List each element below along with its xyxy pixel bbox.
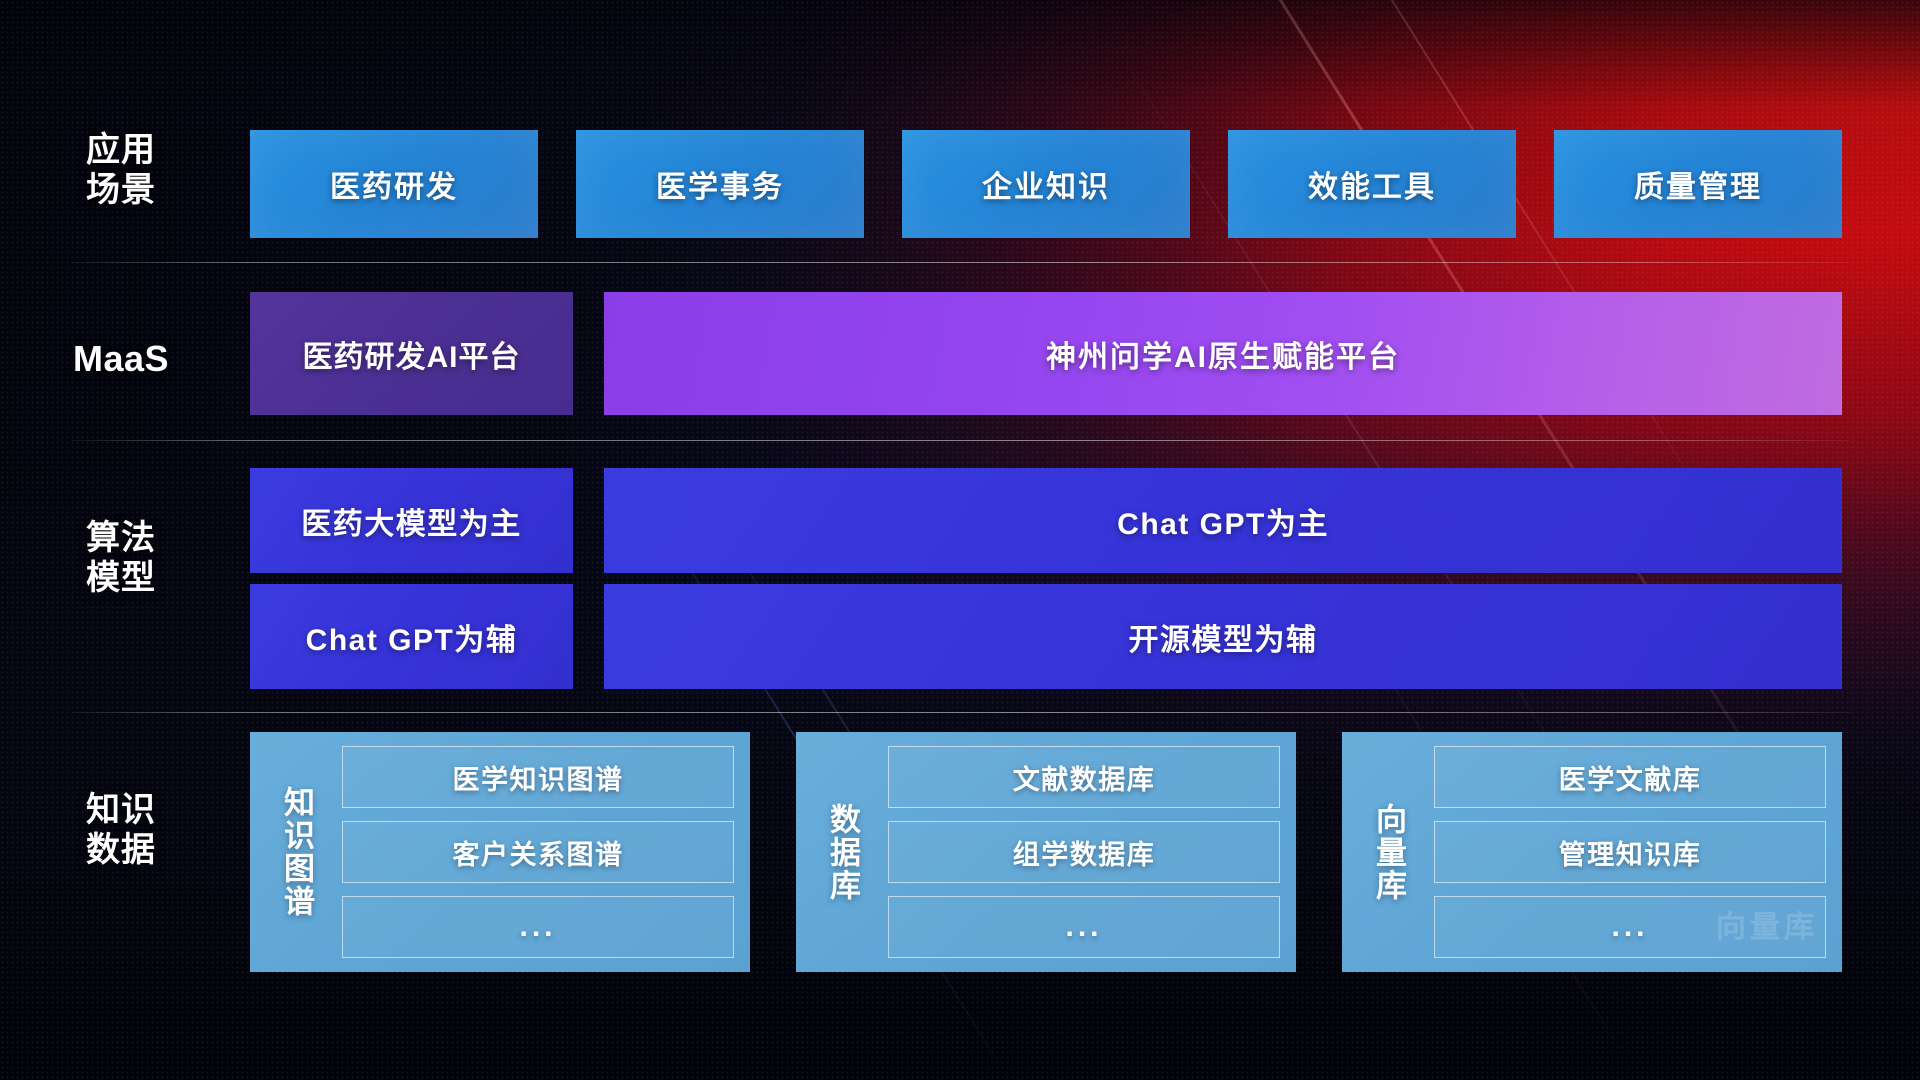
knowledge-item-omics-database[interactable]: 组学数据库 bbox=[888, 821, 1280, 883]
knowledge-item-more[interactable]: ... bbox=[342, 896, 734, 958]
tier-divider-2 bbox=[72, 440, 1850, 441]
tier-label-maas: MaaS bbox=[32, 338, 210, 380]
algo-box-chatgpt-secondary[interactable]: Chat GPT为辅 bbox=[250, 584, 573, 689]
knowledge-group-items: 医学知识图谱 客户关系图谱 ... bbox=[342, 746, 734, 958]
knowledge-group-vector-store[interactable]: 向量库 医学文献库 管理知识库 ... 向量库 bbox=[1342, 732, 1842, 972]
knowledge-group-items: 医学文献库 管理知识库 ... bbox=[1434, 746, 1826, 958]
knowledge-group-title: 数据库 bbox=[810, 746, 874, 958]
algo-box-chatgpt-primary[interactable]: Chat GPT为主 bbox=[604, 468, 1842, 573]
app-box-efficiency-tools[interactable]: 效能工具 bbox=[1228, 130, 1516, 238]
tier-label-line-1: 应用 bbox=[32, 130, 210, 170]
tier-label-line-2: 场景 bbox=[32, 170, 210, 210]
algo-box-drug-large-model-primary[interactable]: 医药大模型为主 bbox=[250, 468, 573, 573]
tier-label-application-scenarios: 应用 场景 bbox=[32, 130, 210, 210]
tier-label-line-2: 模型 bbox=[32, 558, 210, 598]
knowledge-item-more[interactable]: ... bbox=[888, 896, 1280, 958]
tier-label-line-2: 数据 bbox=[32, 830, 210, 870]
knowledge-group-items: 文献数据库 组学数据库 ... bbox=[888, 746, 1280, 958]
knowledge-item-literature-database[interactable]: 文献数据库 bbox=[888, 746, 1280, 808]
knowledge-item-medical-knowledge-graph[interactable]: 医学知识图谱 bbox=[342, 746, 734, 808]
knowledge-item-more[interactable]: ... bbox=[1434, 896, 1826, 958]
knowledge-group-database[interactable]: 数据库 文献数据库 组学数据库 ... bbox=[796, 732, 1296, 972]
tier-label-knowledge-data: 知识 数据 bbox=[32, 790, 210, 870]
tier-label-line-1: 算法 bbox=[32, 518, 210, 558]
knowledge-group-title: 向量库 bbox=[1356, 746, 1420, 958]
app-box-medical-affairs[interactable]: 医学事务 bbox=[576, 130, 864, 238]
maas-box-shenzhou-wenxue-platform[interactable]: 神州问学AI原生赋能平台 bbox=[604, 292, 1842, 415]
knowledge-group-title: 知识图谱 bbox=[264, 746, 328, 958]
app-box-quality-management[interactable]: 质量管理 bbox=[1554, 130, 1842, 238]
tier-label-algorithm-model: 算法 模型 bbox=[32, 518, 210, 598]
knowledge-item-medical-literature-store[interactable]: 医学文献库 bbox=[1434, 746, 1826, 808]
tier-divider-3 bbox=[72, 712, 1850, 713]
app-box-enterprise-knowledge[interactable]: 企业知识 bbox=[902, 130, 1190, 238]
algo-box-opensource-model-secondary[interactable]: 开源模型为辅 bbox=[604, 584, 1842, 689]
knowledge-group-knowledge-graph[interactable]: 知识图谱 医学知识图谱 客户关系图谱 ... bbox=[250, 732, 750, 972]
app-box-drug-rd[interactable]: 医药研发 bbox=[250, 130, 538, 238]
tier-label-line-1: 知识 bbox=[32, 790, 210, 830]
knowledge-item-customer-relation-graph[interactable]: 客户关系图谱 bbox=[342, 821, 734, 883]
knowledge-item-management-knowledge-store[interactable]: 管理知识库 bbox=[1434, 821, 1826, 883]
maas-box-drug-rd-ai-platform[interactable]: 医药研发AI平台 bbox=[250, 292, 573, 415]
diagram-canvas: 应用 场景 医药研发 医学事务 企业知识 效能工具 质量管理 MaaS 医药研发… bbox=[0, 0, 1920, 1080]
tier-divider-1 bbox=[72, 262, 1850, 263]
